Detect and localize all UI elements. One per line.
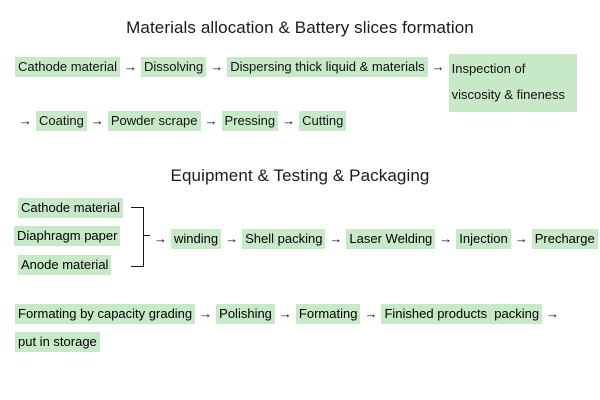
section-title-equipment: Equipment & Testing & Packaging <box>0 166 600 186</box>
step-winding: winding <box>171 229 221 249</box>
flow-materials-row2: →Coating→Powder scrape→Pressing→Cutting <box>15 108 346 134</box>
arrow-icon: → <box>87 113 108 128</box>
step-inspection-of-viscosity: Inspection ofviscosity & fineness <box>449 54 577 112</box>
step-shell-packing: Shell packing <box>242 229 325 249</box>
arrow-icon: → <box>325 231 346 246</box>
step-cutting: Cutting <box>299 111 346 131</box>
step-inspection-line1: Inspection of <box>452 61 526 76</box>
section-title-materials: Materials allocation & Battery slices fo… <box>0 18 600 38</box>
step-dispersing-thick-liquid: Dispersing thick liquid & materials <box>227 57 427 77</box>
step-formating-by-capacity-grading: Formating by capacity grading <box>15 304 195 324</box>
step-laser-welding: Laser Welding <box>346 229 435 249</box>
arrow-icon: → <box>428 59 449 74</box>
flow-equipment-row: →winding→Shell packing→Laser Welding→Inj… <box>150 226 600 252</box>
arrow-icon: → <box>511 231 532 246</box>
arrow-icon: → <box>542 306 563 321</box>
step-formating: Formating <box>296 304 361 324</box>
flow-materials-row1: Cathode material→Dissolving→Dispersing t… <box>15 54 600 112</box>
step-injection: Injection <box>456 229 510 249</box>
step-polishing: Polishing <box>216 304 275 324</box>
input-diaphragm-paper: Diaphragm paper <box>14 226 120 246</box>
arrow-icon: → <box>201 113 222 128</box>
flow-finishing-row: Formating by capacity grading→Polishing→… <box>15 300 590 356</box>
step-coating: Coating <box>36 111 87 131</box>
flowchart-page: Materials allocation & Battery slices fo… <box>0 0 600 400</box>
input-anode-material: Anode material <box>18 255 111 275</box>
arrow-icon: → <box>435 231 456 246</box>
arrow-icon: → <box>195 306 216 321</box>
step-precharge: Precharge <box>532 229 598 249</box>
arrow-icon: → <box>120 59 141 74</box>
arrow-icon: → <box>278 113 299 128</box>
step-pressing: Pressing <box>222 111 279 131</box>
arrow-icon: → <box>360 306 381 321</box>
step-cathode-material: Cathode material <box>15 57 120 77</box>
step-dissolving: Dissolving <box>141 57 206 77</box>
merge-bracket-icon <box>131 207 144 267</box>
arrow-icon: → <box>206 59 227 74</box>
arrow-icon: → <box>150 231 171 246</box>
input-cathode-material: Cathode material <box>18 198 123 218</box>
arrow-icon: → <box>275 306 296 321</box>
step-inspection-line2: viscosity & fineness <box>452 87 565 102</box>
step-put-in-storage: put in storage <box>15 332 100 352</box>
merge-bracket-stem-icon <box>143 235 150 236</box>
step-powder-scrape: Powder scrape <box>108 111 201 131</box>
arrow-icon: → <box>221 231 242 246</box>
step-finished-products-packing: Finished products packing <box>381 304 542 324</box>
arrow-icon: → <box>15 113 36 128</box>
